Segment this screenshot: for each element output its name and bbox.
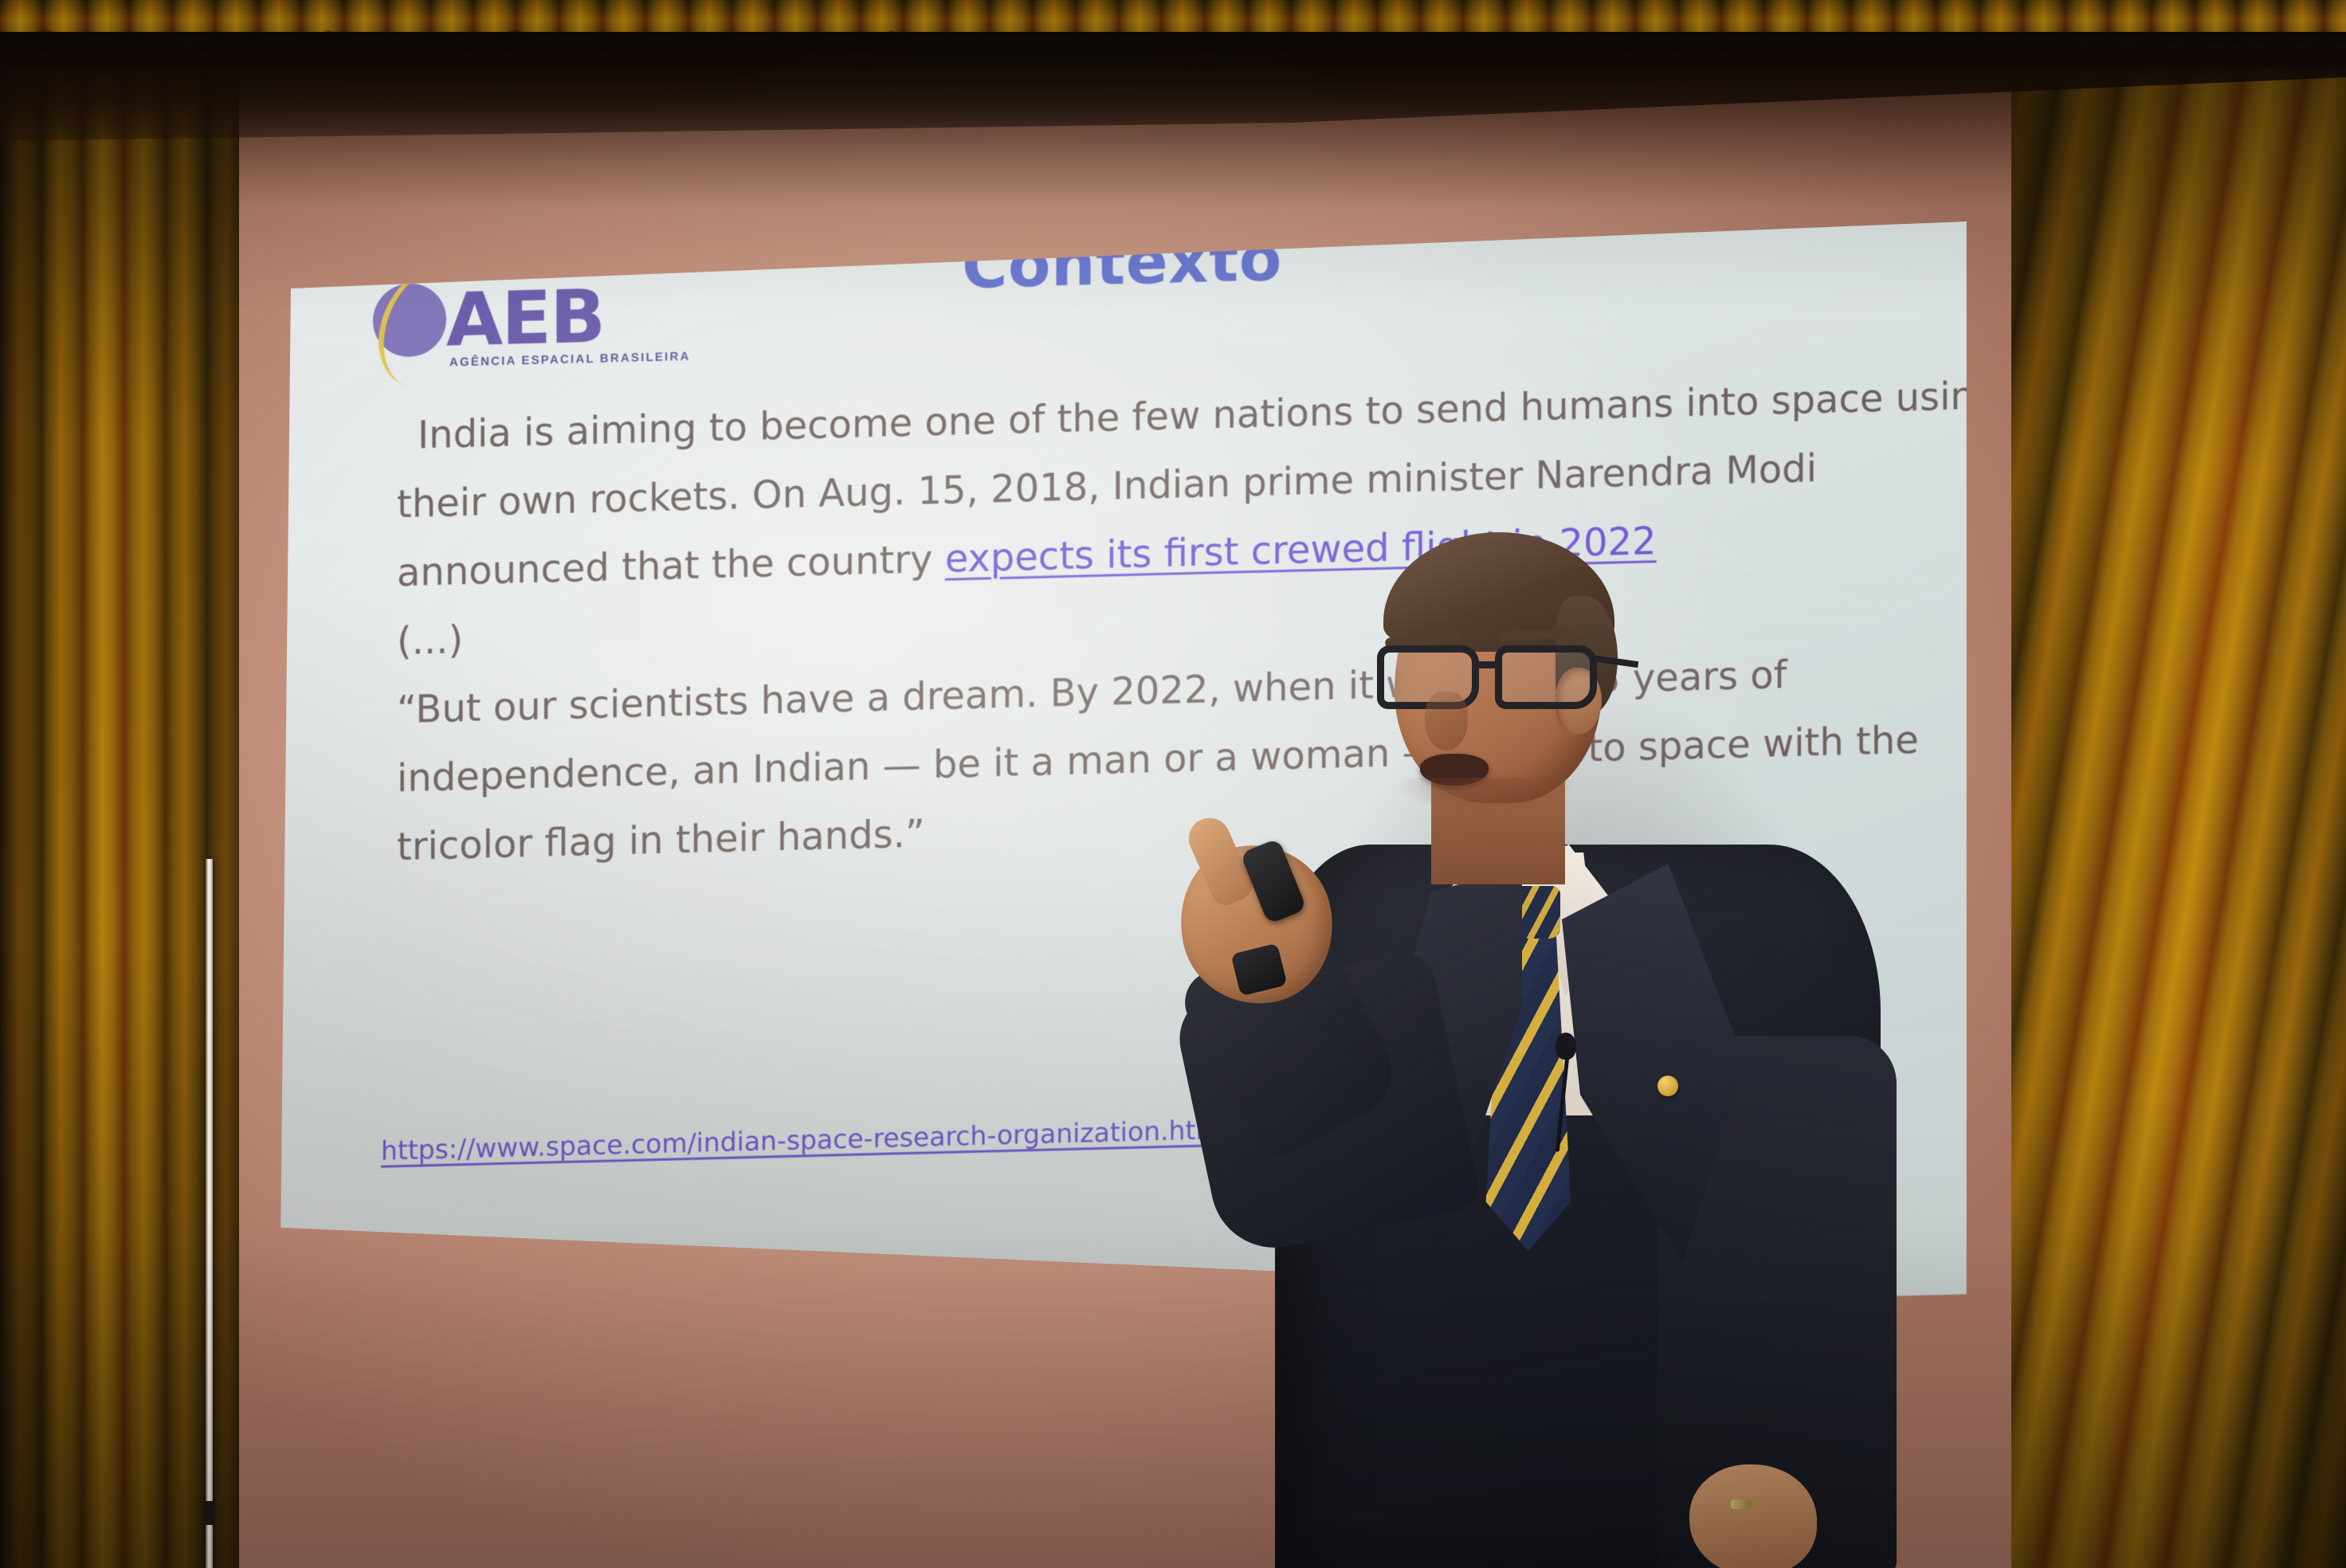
speaker-figure — [1243, 526, 1897, 1568]
curtain-right — [2011, 0, 2346, 1568]
speaker-nose — [1425, 692, 1468, 751]
eyeglass-bridge — [1477, 661, 1498, 668]
speaker-chin-shadow — [1399, 778, 1575, 814]
stand-pole — [206, 859, 213, 1568]
eyeglass-lens-right — [1495, 645, 1597, 709]
eyeglass-temple — [1591, 655, 1639, 668]
lavalier-microphone-icon — [1555, 1033, 1576, 1060]
auditorium-wall — [0, 0, 2346, 1568]
stand-pole-foot — [204, 1501, 215, 1525]
wedding-ring-icon — [1731, 1499, 1752, 1509]
curtain-left — [0, 0, 239, 1568]
lapel-pin-icon — [1657, 1076, 1678, 1096]
stage-scene: AEB AGÊNCIA ESPACIAL BRASILEIRA Contexto… — [0, 0, 2346, 1568]
eyeglasses-icon — [1377, 645, 1616, 719]
speaker-right-hand — [1689, 1464, 1817, 1568]
